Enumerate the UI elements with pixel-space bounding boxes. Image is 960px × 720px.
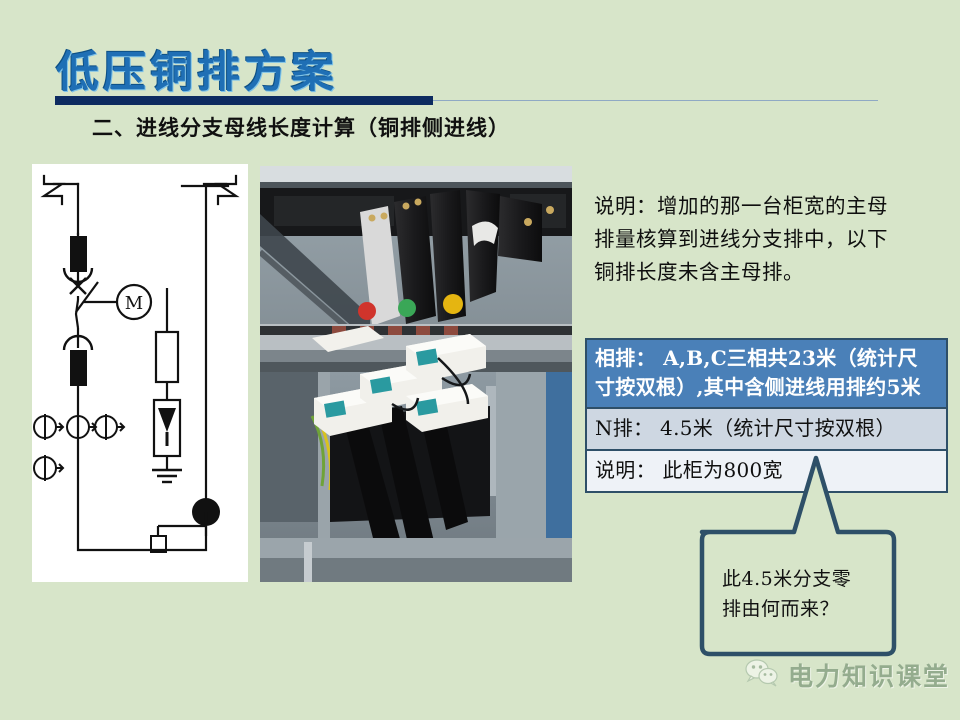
cabinet-photo xyxy=(260,166,572,582)
explanation-note: 说明：增加的那一台柜宽的主母 排量核算到进线分支排中，以下 铜排长度未含主母排。 xyxy=(594,190,942,289)
watermark-text: 电力知识课堂 xyxy=(788,657,950,693)
callout-line: 此4.5米分支零 xyxy=(722,564,872,594)
title-rule-thick xyxy=(55,96,433,105)
indicator-green xyxy=(398,299,416,317)
page-title: 低压铜排方案 xyxy=(56,38,338,100)
callout-line: 排由何而来？ xyxy=(722,594,872,624)
note-line: 说明：增加的那一台柜宽的主母 xyxy=(594,190,942,223)
title-rule-thin xyxy=(433,100,878,101)
table-row: 相排： A,B,C三相共23米（统计尺寸按双根）,其中含侧进线用排约5米 xyxy=(587,340,946,409)
callout-text: 此4.5米分支零 排由何而来？ xyxy=(722,564,872,624)
indicator-yellow xyxy=(443,294,463,314)
note-line: 排量核算到进线分支排中，以下 xyxy=(594,223,942,256)
note-line: 铜排长度未含主母排。 xyxy=(594,256,942,289)
callout-bubble-shape xyxy=(702,458,894,654)
motor-label: M xyxy=(125,293,143,314)
section-subtitle: 二、进线分支母线长度计算（铜排侧进线） xyxy=(92,112,510,142)
circuit-schematic: M xyxy=(32,164,248,582)
wechat-icon xyxy=(745,659,779,691)
question-callout: 此4.5米分支零 排由何而来？ xyxy=(700,528,890,658)
watermark: 电力知识课堂 xyxy=(745,657,950,693)
table-row: N排： 4.5米（统计尺寸按双根） xyxy=(587,409,946,451)
indicator-red xyxy=(358,302,376,320)
slide-canvas: 低压铜排方案 二、进线分支母线长度计算（铜排侧进线） xyxy=(0,0,960,720)
